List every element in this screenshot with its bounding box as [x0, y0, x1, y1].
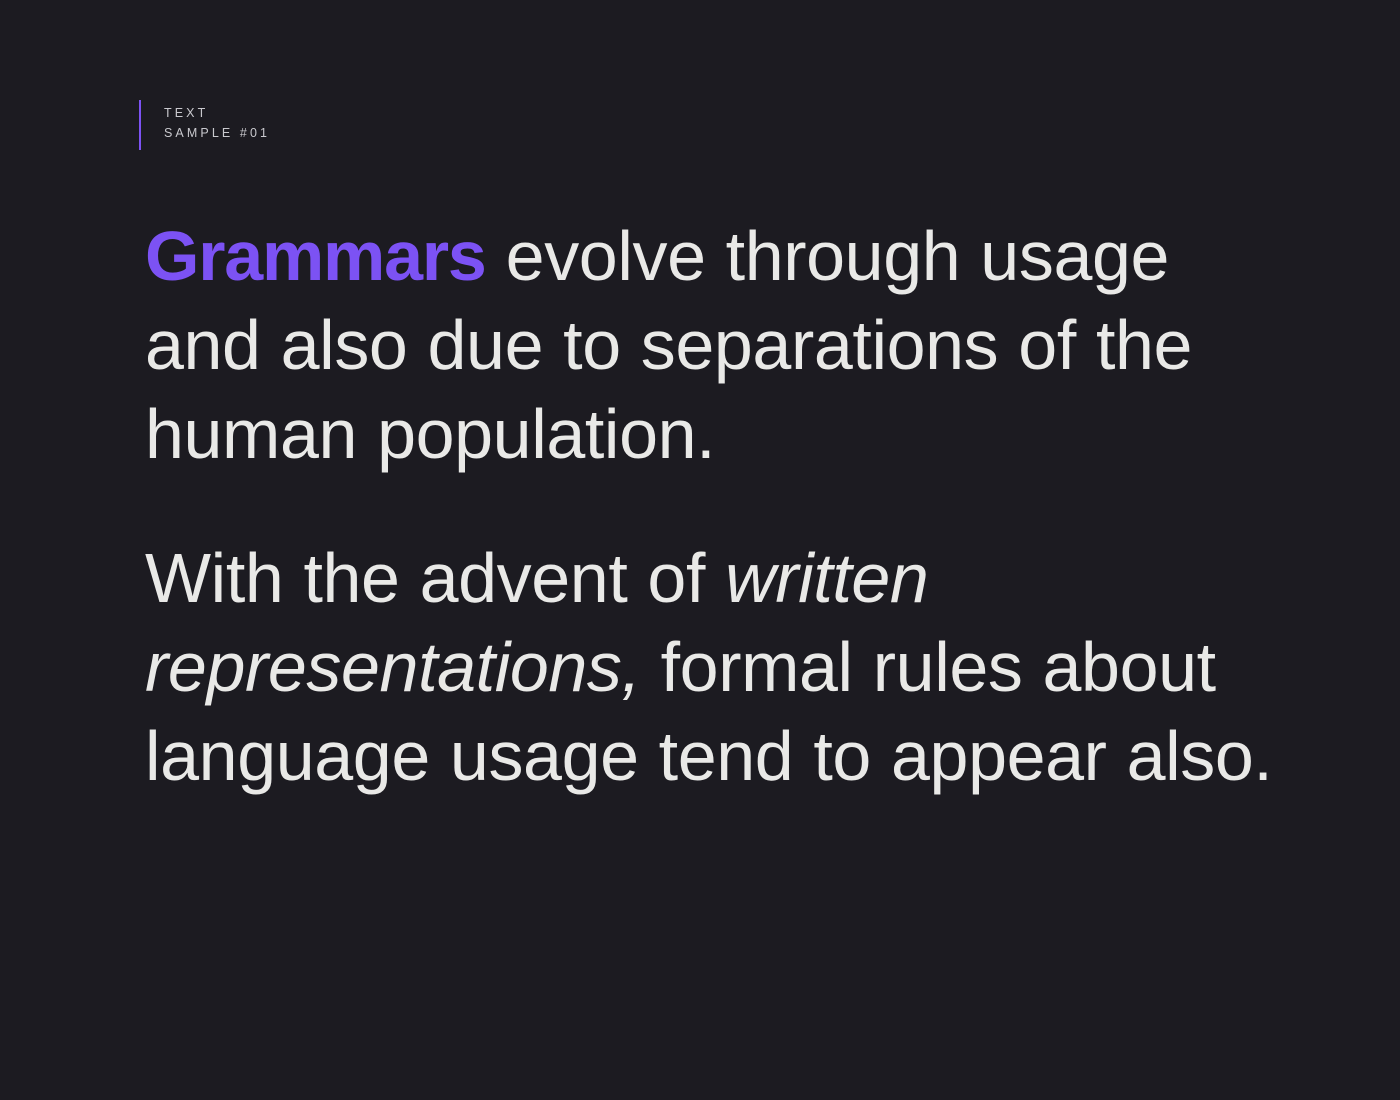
prose-body: Grammars evolve through usage and also d…: [145, 212, 1275, 801]
eyebrow-line-2: SAMPLE #01: [164, 123, 270, 143]
paragraph-1-accent-word: Grammars: [145, 217, 486, 295]
eyebrow-label: TEXT SAMPLE #01: [139, 100, 270, 150]
paragraph-2: With the advent of written representatio…: [145, 534, 1275, 801]
paragraph-2-lead: With the advent of: [145, 539, 725, 617]
paragraph-1: Grammars evolve through usage and also d…: [145, 212, 1275, 479]
eyebrow-text-group: TEXT SAMPLE #01: [164, 100, 270, 143]
accent-rule-icon: [139, 100, 141, 150]
eyebrow-line-1: TEXT: [164, 103, 270, 123]
slide-canvas: TEXT SAMPLE #01 Grammars evolve through …: [0, 0, 1400, 1100]
